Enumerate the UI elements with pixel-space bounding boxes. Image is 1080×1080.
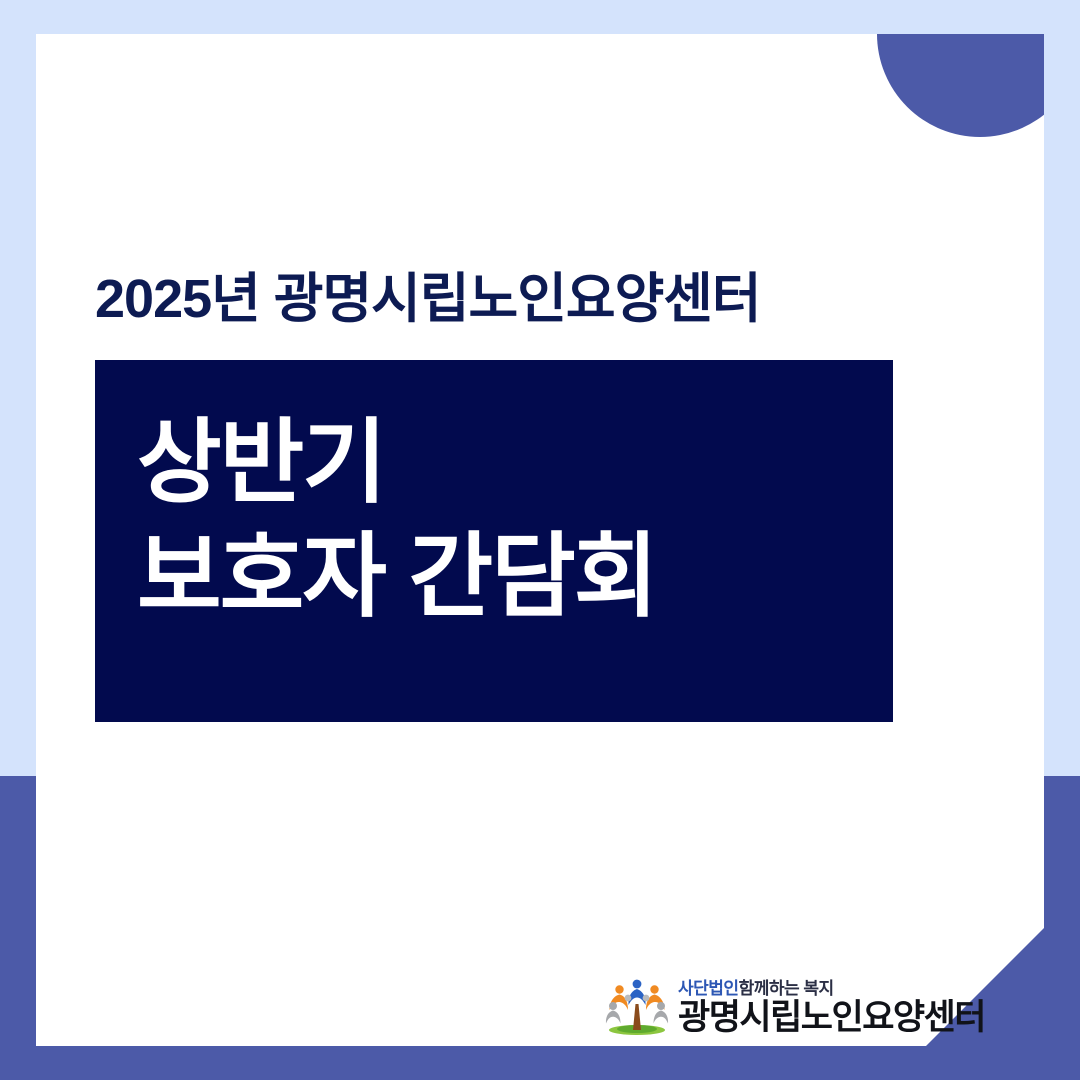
poster-eyebrow-title: 2025년 광명시립노인요양센터 [95, 272, 761, 326]
logo-tagline-rest: 함께하는 복지 [739, 979, 834, 998]
headline-line-2: 보호자 간담회 [137, 520, 893, 634]
poster-canvas: 2025년 광명시립노인요양센터 상반기 보호자 간담회 [0, 0, 1080, 1080]
logo-tagline-highlight: 사단법인 [678, 979, 739, 998]
semicircle-decoration-icon [877, 34, 1044, 137]
organization-logo: 사단법인함께하는 복지 광명시립노인요양센터 [604, 978, 985, 1036]
people-tree-logo-icon [604, 978, 670, 1036]
logo-tagline: 사단법인함께하는 복지 [678, 980, 985, 997]
headline-line-1: 상반기 [137, 406, 893, 520]
logo-text-block: 사단법인함께하는 복지 광명시립노인요양센터 [678, 980, 985, 1035]
poster-card: 2025년 광명시립노인요양센터 상반기 보호자 간담회 [36, 34, 1044, 1046]
logo-organization-name: 광명시립노인요양센터 [678, 1000, 985, 1035]
headline-box: 상반기 보호자 간담회 [95, 360, 893, 722]
